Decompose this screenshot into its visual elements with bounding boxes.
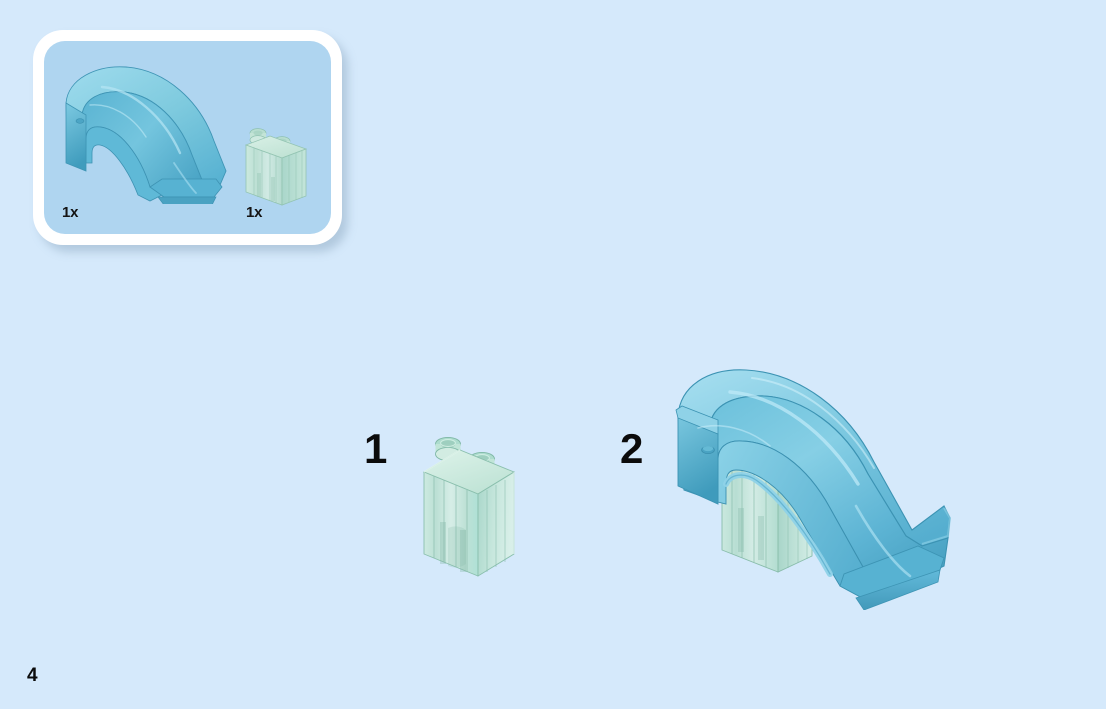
step-1-transparent-brick <box>410 428 525 583</box>
qty-label-curved-slide: 1x <box>62 204 78 221</box>
transparent-brick-icon <box>240 119 312 211</box>
page-number: 4 <box>27 665 38 687</box>
qty-label-transparent-brick: 1x <box>246 204 262 221</box>
step-2-assembly <box>660 358 970 610</box>
curved-slide-part <box>676 370 950 610</box>
callout-transparent-brick-part <box>240 119 312 211</box>
parts-callout-inner: 1x 1x <box>44 41 331 234</box>
parts-required-callout: 1x 1x <box>33 30 342 245</box>
curved-slide-icon <box>54 59 239 204</box>
transparent-brick-icon <box>410 428 525 583</box>
curved-slide-on-brick-icon <box>660 358 970 610</box>
step-number-1: 1 <box>364 428 386 470</box>
step-number-2: 2 <box>620 428 642 470</box>
callout-curved-slide-part <box>54 59 239 204</box>
